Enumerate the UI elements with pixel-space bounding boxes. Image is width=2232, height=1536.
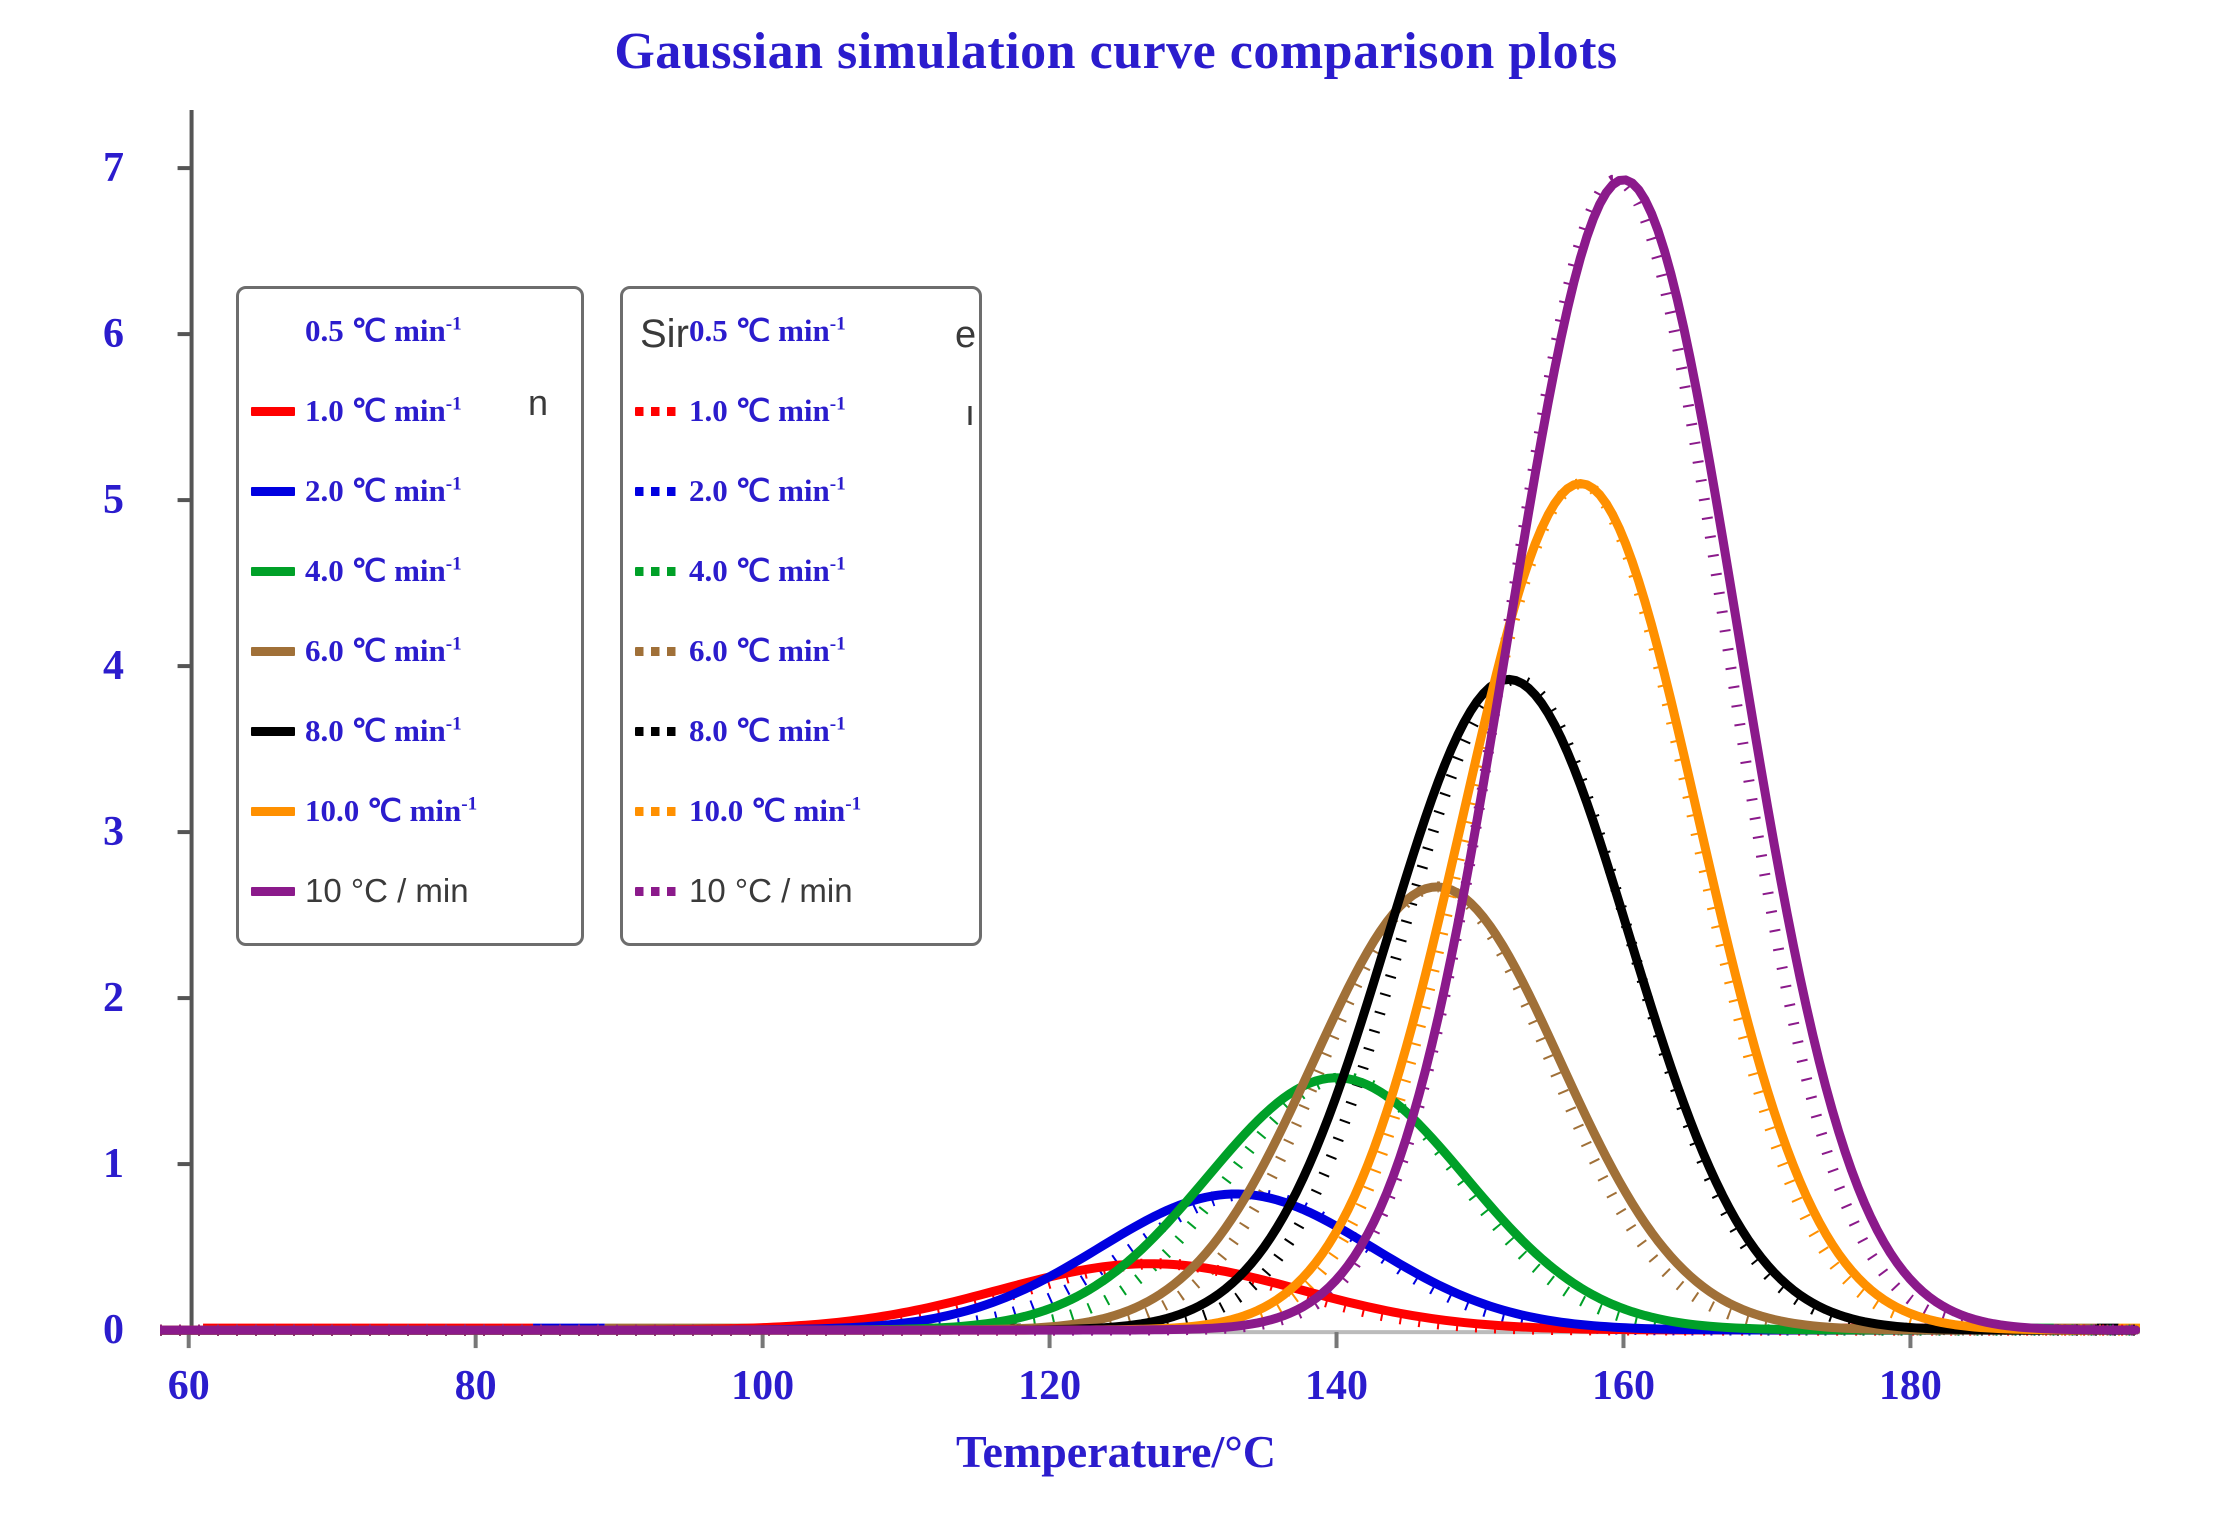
legend-item-label: 4.0 ℃ min-1 (689, 553, 846, 589)
legend-item-label: 10 °C / min (689, 872, 853, 910)
legend-item-exponent: -1 (461, 794, 477, 815)
x-tick-label: 160 (1592, 1362, 1655, 1410)
legend-item-label: 2.0 ℃ min-1 (305, 473, 462, 509)
legend-item[interactable]: 0.5 ℃ min-1 (251, 303, 571, 359)
legend-item-exponent: -1 (446, 394, 462, 415)
legend-item[interactable]: 2.0 ℃ min-1 (635, 463, 969, 519)
legend-item[interactable]: 10 °C / min (635, 863, 969, 919)
legend-item[interactable]: 8.0 ℃ min-1 (635, 703, 969, 759)
chart-page: Gaussian simulation curve comparison plo… (0, 0, 2232, 1536)
x-tick-label: 180 (1879, 1362, 1942, 1410)
x-tick-label: 140 (1305, 1362, 1368, 1410)
legend-item-label: 1.0 ℃ min-1 (689, 393, 846, 429)
y-tick-label: 5 (78, 476, 124, 524)
legend-item-label: 6.0 ℃ min-1 (305, 633, 462, 669)
x-tick-label: 60 (168, 1362, 210, 1410)
series-line-dotted (160, 1078, 2136, 1330)
y-tick-label: 2 (78, 974, 124, 1022)
legend-item[interactable]: 1.0 ℃ min-1 (251, 383, 571, 439)
legend-item-label: 10.0 ℃ min-1 (305, 793, 477, 829)
legend-item-exponent: -1 (446, 314, 462, 335)
legend-item-label: 10.0 ℃ min-1 (689, 793, 861, 829)
legend-item[interactable]: 6.0 ℃ min-1 (251, 623, 571, 679)
legend-item[interactable]: 4.0 ℃ min-1 (251, 543, 571, 599)
legend-item-label: 10 °C / min (305, 872, 469, 910)
legend-item-label: 2.0 ℃ min-1 (689, 473, 846, 509)
legend-item-exponent: -1 (830, 634, 846, 655)
legend-item[interactable]: 8.0 ℃ min-1 (251, 703, 571, 759)
legend-item-exponent: -1 (830, 394, 846, 415)
series-line-solid (160, 1078, 2136, 1330)
legend-item-label: 8.0 ℃ min-1 (689, 713, 846, 749)
stray-glyph-n: n (528, 382, 548, 424)
legend-item-exponent: -1 (830, 554, 846, 575)
legend-item-exponent: -1 (845, 794, 861, 815)
y-tick-label: 7 (78, 144, 124, 192)
stray-glyph-e: e (955, 314, 976, 357)
legend-item[interactable]: 4.0 ℃ min-1 (635, 543, 969, 599)
y-tick-label: 4 (78, 642, 124, 690)
stray-glyph-i: ı (965, 392, 975, 434)
x-tick-label: 100 (731, 1362, 794, 1410)
page-title: Gaussian simulation curve comparison plo… (0, 22, 2232, 81)
legend-item-exponent: -1 (446, 714, 462, 735)
legend-item[interactable]: 10 °C / min (251, 863, 571, 919)
x-tick-label: 120 (1018, 1362, 1081, 1410)
legend-item[interactable]: 2.0 ℃ min-1 (251, 463, 571, 519)
stray-glyph-sir: Sir (640, 312, 689, 357)
legend-item-label: 0.5 ℃ min-1 (305, 313, 462, 349)
legend-item-label: 4.0 ℃ min-1 (305, 553, 462, 589)
legend-item-label: 6.0 ℃ min-1 (689, 633, 846, 669)
legend-item-label: 0.5 ℃ min-1 (689, 313, 846, 349)
legend-item-exponent: -1 (830, 474, 846, 495)
x-tick-label: 80 (455, 1362, 497, 1410)
legend-item-exponent: -1 (446, 554, 462, 575)
legend-item[interactable]: 1.0 ℃ min-1 (635, 383, 969, 439)
x-axis-label: Temperature/°C (0, 1425, 2232, 1478)
y-tick-label: 3 (78, 808, 124, 856)
legend-item-label: 1.0 ℃ min-1 (305, 393, 462, 429)
y-tick-label: 1 (78, 1140, 124, 1188)
legend-item-exponent: -1 (446, 634, 462, 655)
legend-item[interactable]: 10.0 ℃ min-1 (251, 783, 571, 839)
legend-item-exponent: -1 (830, 714, 846, 735)
legend-item-exponent: -1 (830, 314, 846, 335)
legend-simulated[interactable]: 0.5 ℃ min-11.0 ℃ min-12.0 ℃ min-14.0 ℃ m… (620, 286, 982, 946)
legend-item[interactable]: 6.0 ℃ min-1 (635, 623, 969, 679)
y-tick-label: 6 (78, 310, 124, 358)
legend-item-label: 8.0 ℃ min-1 (305, 713, 462, 749)
legend-item-exponent: -1 (446, 474, 462, 495)
legend-item[interactable]: 10.0 ℃ min-1 (635, 783, 969, 839)
y-tick-label: 0 (78, 1306, 124, 1354)
